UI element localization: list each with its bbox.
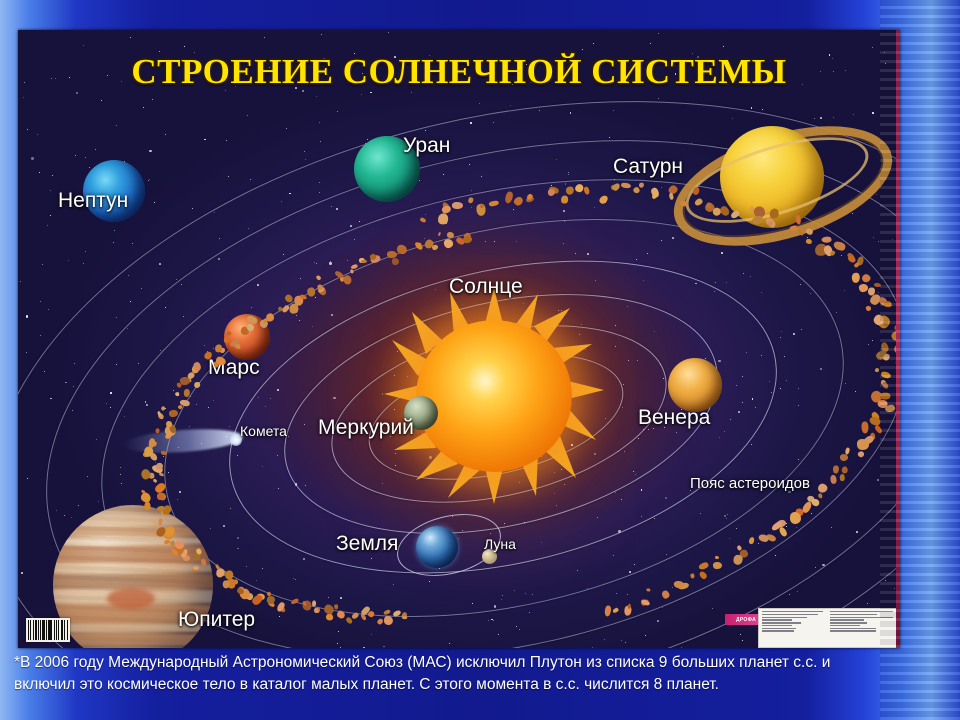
label-mars: Марс	[208, 356, 260, 380]
mars-body	[224, 314, 270, 360]
caption-block: *В 2006 году Международный Астрономическ…	[14, 652, 948, 696]
label-uranus: Уран	[403, 134, 450, 158]
solar-system-poster: Солнце Меркурий Венера Земля Луна Марс К…	[18, 30, 900, 648]
caption-line-1: *В 2006 году Международный Астрономическ…	[14, 652, 948, 674]
presentation-slide: Солнце Меркурий Венера Земля Луна Марс К…	[0, 0, 960, 720]
earth-body	[416, 526, 458, 568]
label-mercury: Меркурий	[318, 416, 414, 440]
label-venus: Венера	[638, 406, 710, 430]
info-panel-column-left	[762, 611, 827, 645]
publisher-badge-label: ДРОФА	[736, 617, 756, 623]
label-saturn: Сатурн	[613, 155, 683, 179]
caption-line-2: включил это космическое тело в каталог м…	[14, 674, 948, 696]
label-jupiter: Юпитер	[178, 608, 255, 632]
sun-body	[416, 320, 572, 472]
label-moon: Луна	[484, 536, 516, 552]
label-asteroid-belt: Пояс астероидов	[690, 475, 810, 492]
page-title: СТРОЕНИЕ СОЛНЕЧНОЙ СИСТЕМЫ	[18, 52, 900, 92]
barcode	[26, 618, 70, 642]
poster-print-edge	[896, 30, 900, 648]
label-sun: Солнце	[449, 275, 523, 299]
label-neptune: Нептун	[58, 189, 128, 213]
publisher-info-panel	[758, 608, 898, 648]
label-earth: Земля	[336, 532, 398, 556]
label-comet: Комета	[240, 423, 287, 439]
info-panel-column-right	[830, 611, 895, 645]
venus-body	[668, 358, 722, 412]
